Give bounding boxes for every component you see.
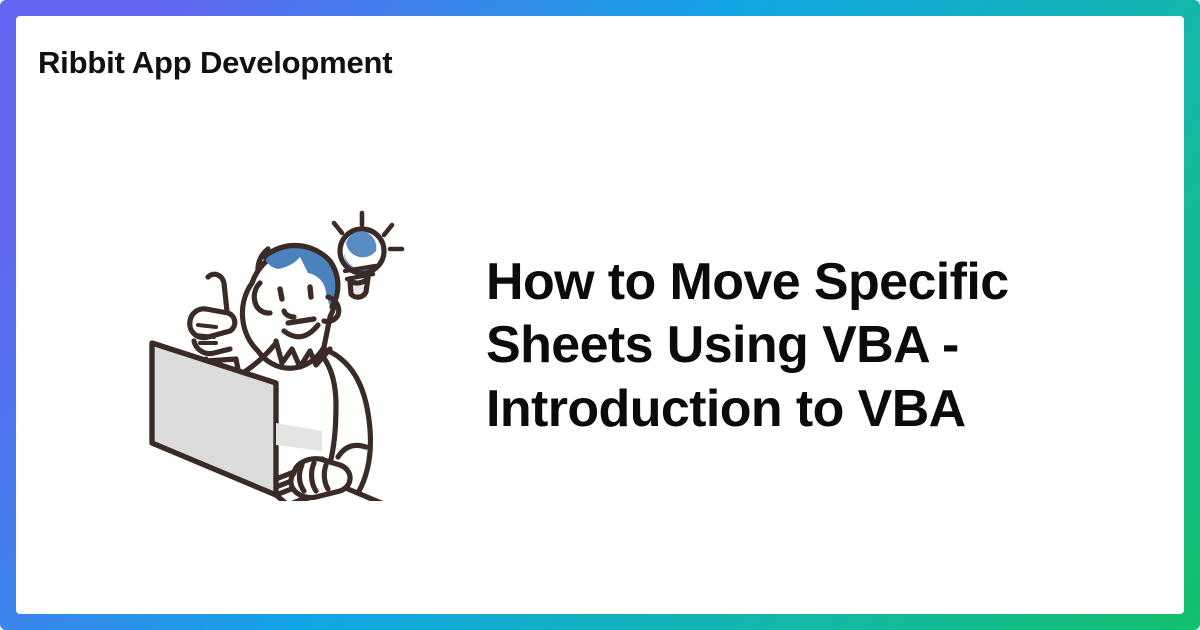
inner-white-panel: Ribbit App Development — [16, 16, 1184, 614]
person-at-laptop-with-idea-lightbulb-illustration — [104, 181, 464, 511]
content-row: How to Move Specific Sheets Using VBA - … — [16, 126, 1184, 566]
og-image-card: Ribbit App Development — [0, 0, 1200, 630]
illustration-svg — [134, 191, 434, 501]
post-title: How to Move Specific Sheets Using VBA - … — [486, 251, 1144, 441]
lightbulb-icon — [340, 229, 384, 297]
brand-name: Ribbit App Development — [38, 45, 392, 81]
desk-line — [348, 489, 410, 501]
title-block: How to Move Specific Sheets Using VBA - … — [464, 251, 1184, 441]
